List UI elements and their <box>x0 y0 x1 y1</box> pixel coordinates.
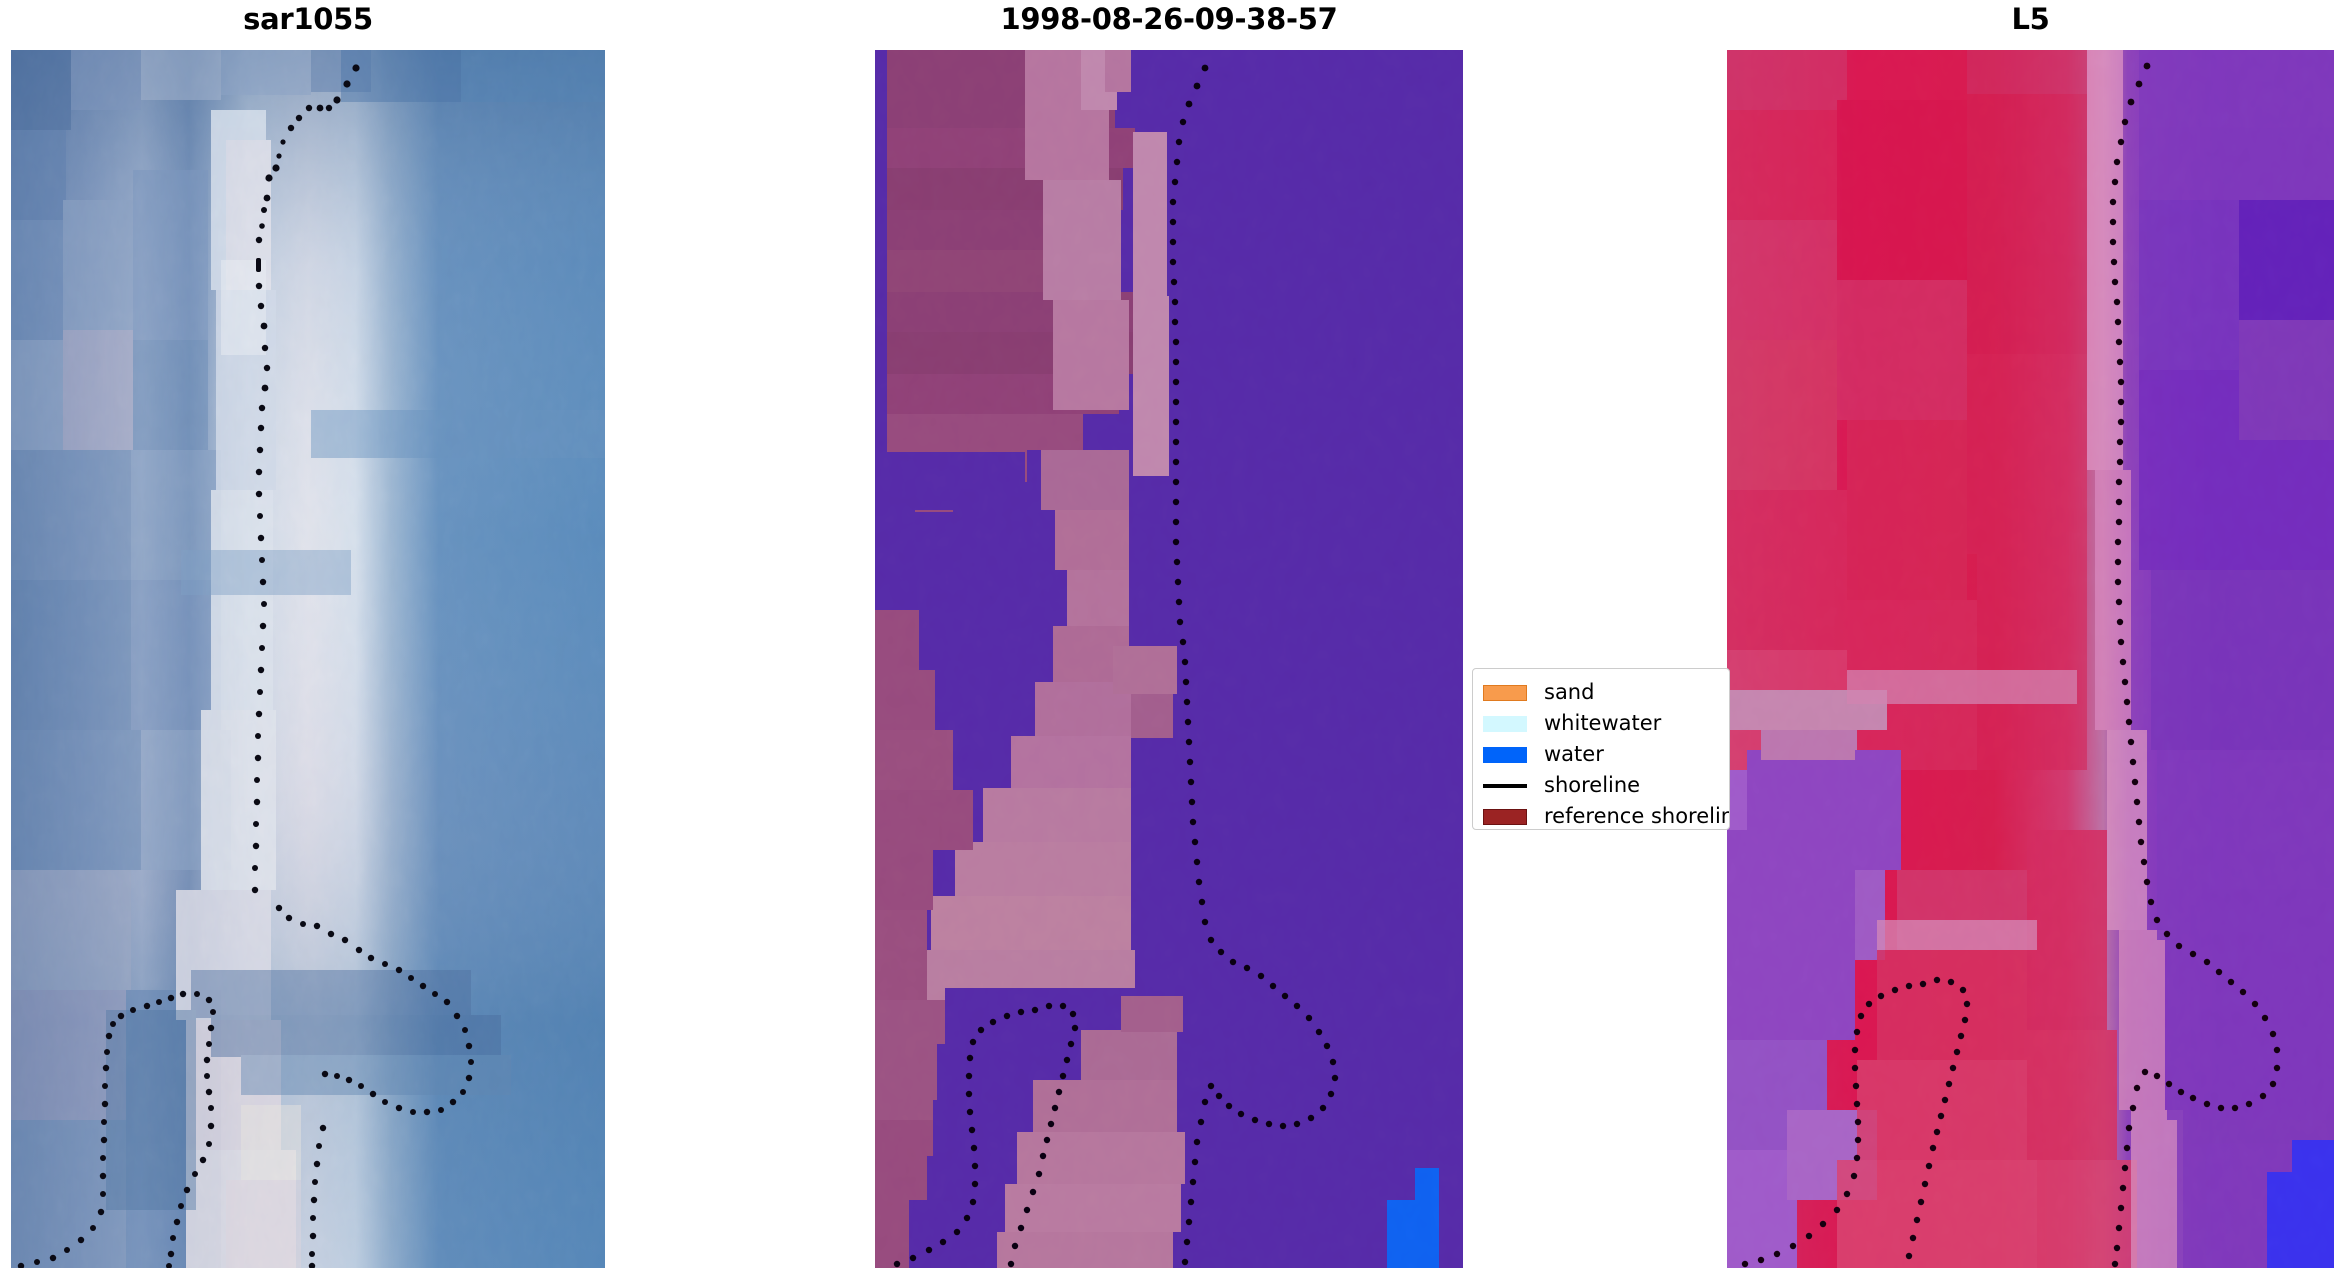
legend-label-water: water <box>1544 744 1604 765</box>
classified-image-raster <box>875 50 1463 1268</box>
panel-rgb-image[interactable] <box>11 50 605 1268</box>
shoreline-line-swatch <box>1483 784 1527 788</box>
whitewater-swatch <box>1483 716 1527 732</box>
figure-canvas: sar1055 <box>0 0 2334 1283</box>
panel-title-classified: 1998-08-26-09-38-57 <box>875 2 1463 36</box>
legend-label-sand: sand <box>1544 682 1594 703</box>
water-swatch <box>1483 747 1527 763</box>
panel-index-image[interactable] <box>1727 50 2334 1268</box>
legend-item-whitewater[interactable]: whitewater <box>1483 708 1719 739</box>
reference-shoreline-swatch <box>1483 809 1527 825</box>
legend-label-reference-shoreline: reference shoreline <box>1544 806 1730 827</box>
legend-item-water[interactable]: water <box>1483 739 1719 770</box>
legend-item-sand[interactable]: sand <box>1483 677 1719 708</box>
legend-label-whitewater: whitewater <box>1544 713 1661 734</box>
legend-label-shoreline: shoreline <box>1544 775 1640 796</box>
sand-swatch <box>1483 685 1527 701</box>
legend-item-shoreline[interactable]: shoreline <box>1483 770 1719 801</box>
panel-classified-image[interactable] <box>875 50 1463 1268</box>
panel-title-sar: sar1055 <box>11 2 605 36</box>
index-image-raster <box>1727 50 2334 1268</box>
panel-3-clip-mask <box>1727 668 1732 830</box>
rgb-image-raster <box>11 50 605 1268</box>
panel-title-index: L5 <box>1727 2 2334 36</box>
legend-item-reference-shoreline[interactable]: reference shoreline <box>1483 801 1719 830</box>
legend-box[interactable]: sand whitewater water shoreline referenc… <box>1472 668 1730 830</box>
